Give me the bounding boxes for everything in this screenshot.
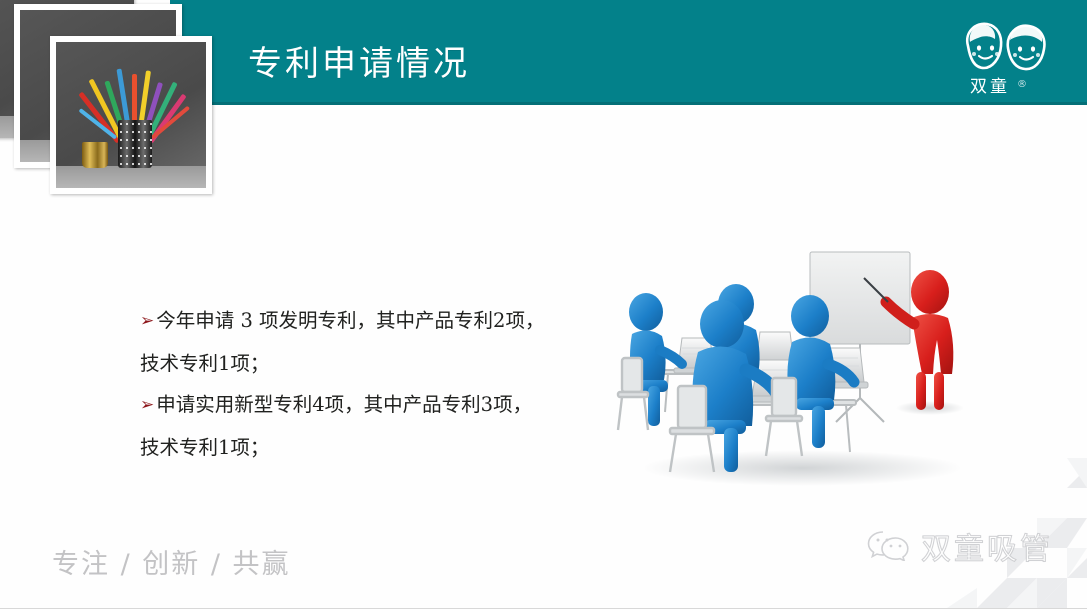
stacked-photo-frames xyxy=(0,0,215,190)
footer-tagline: 专注 / 创新 / 共赢 xyxy=(52,542,291,581)
wechat-icon xyxy=(867,527,911,566)
bullet-1-line-1: 今年申请 3 项发明专利，其中产品专利2项， xyxy=(156,309,544,332)
bullet-2-line-2: 技术专利1项； xyxy=(140,427,610,468)
bullet-1-line-2: 技术专利1项； xyxy=(140,343,610,384)
bullet-2-line-1: 申请实用新型专利4项，其中产品专利3项， xyxy=(156,393,532,416)
bullet-item-1: ➢今年申请 3 项发明专利，其中产品专利2项， 技术专利1项； xyxy=(140,300,610,384)
bullet-item-2: ➢申请实用新型专利4项，其中产品专利3项， 技术专利1项； xyxy=(140,384,610,468)
wechat-watermark: 双童吸管 xyxy=(867,524,1053,568)
straws-photo xyxy=(56,42,206,188)
brand-logo: 双童 ® xyxy=(954,16,1062,92)
bullet-list: ➢今年申请 3 项发明专利，其中产品专利2项， 技术专利1项； ➢申请实用新型专… xyxy=(140,300,610,468)
presentation-slide: 专利申请情况 xyxy=(0,0,1087,609)
registered-trademark-icon: ® xyxy=(1017,79,1027,90)
bullet-arrow-icon: ➢ xyxy=(140,301,154,342)
page-title: 专利申请情况 xyxy=(248,36,470,85)
presentation-training-illustration xyxy=(612,240,992,490)
logo-brand-text: 双童 xyxy=(970,72,1010,97)
photo-frame-front xyxy=(50,36,212,194)
bullet-arrow-icon: ➢ xyxy=(140,385,154,426)
watermark-text: 双童吸管 xyxy=(921,524,1053,568)
